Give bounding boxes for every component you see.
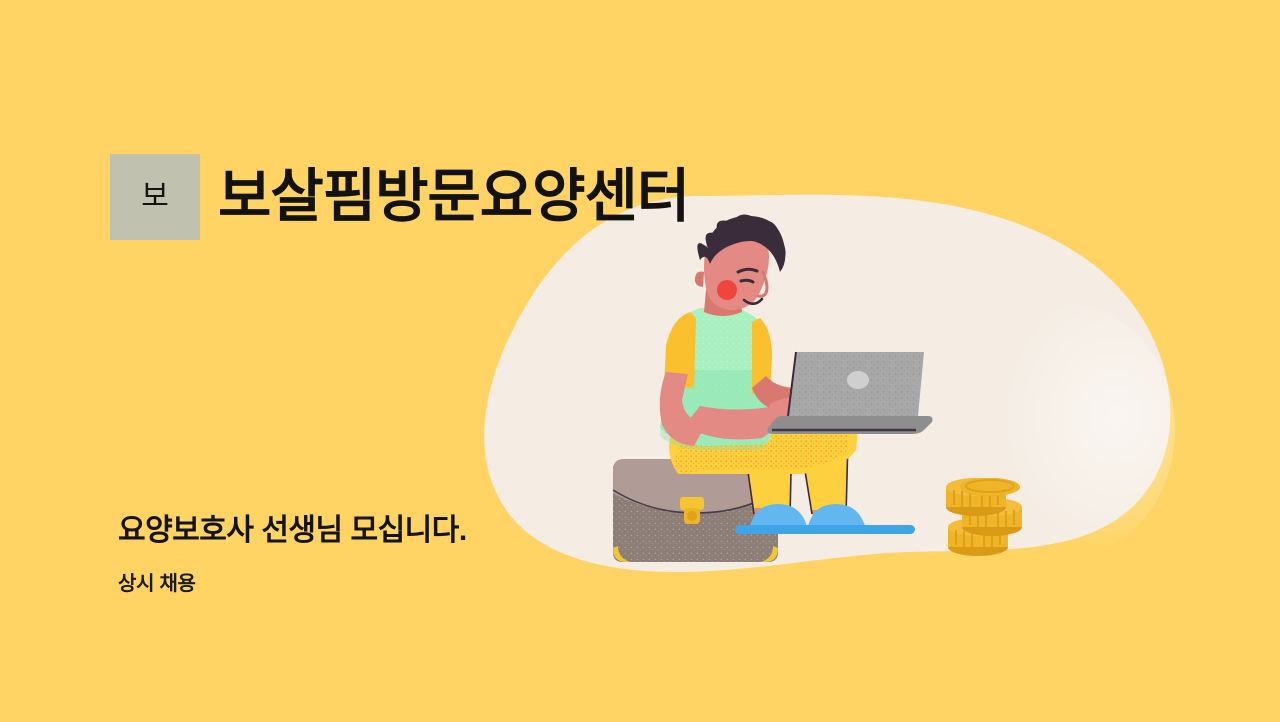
far-leg (800, 438, 848, 531)
near-leg (742, 430, 792, 531)
sleeve-right (752, 318, 772, 394)
tshirt (655, 305, 785, 460)
hand-far (796, 383, 838, 400)
arm-near (660, 372, 788, 446)
recruitment-subline: 상시 채용 (118, 572, 467, 596)
sleeve-left (664, 312, 696, 388)
logo-badge-glyph: 보 (141, 182, 169, 212)
company-logo-badge: 보 (110, 154, 200, 240)
pants-seat (660, 417, 870, 480)
company-name-title: 보살핌방문요양센터 (218, 167, 689, 228)
decorative-blob-shape (0, 0, 1280, 722)
person-with-laptop-illustration (0, 0, 1280, 722)
recruitment-headline: 요양보호사 선생님 모십니다. (118, 512, 467, 550)
recruitment-text-block: 요양보호사 선생님 모십니다. 상시 채용 (118, 512, 467, 596)
laptop (768, 352, 933, 434)
briefcase-graphic (613, 436, 783, 569)
coin-stack (946, 478, 1022, 556)
job-posting-poster: 보 보살핌방문요양센터 요양보호사 선생님 모십니다. 상시 채용 (0, 0, 1280, 722)
shoe-far (793, 504, 915, 534)
shoe-near (735, 504, 857, 534)
head (695, 214, 790, 316)
hand-near (766, 394, 822, 428)
poster-header: 보 보살핌방문요양센터 (110, 128, 689, 267)
arm-far (752, 376, 800, 412)
